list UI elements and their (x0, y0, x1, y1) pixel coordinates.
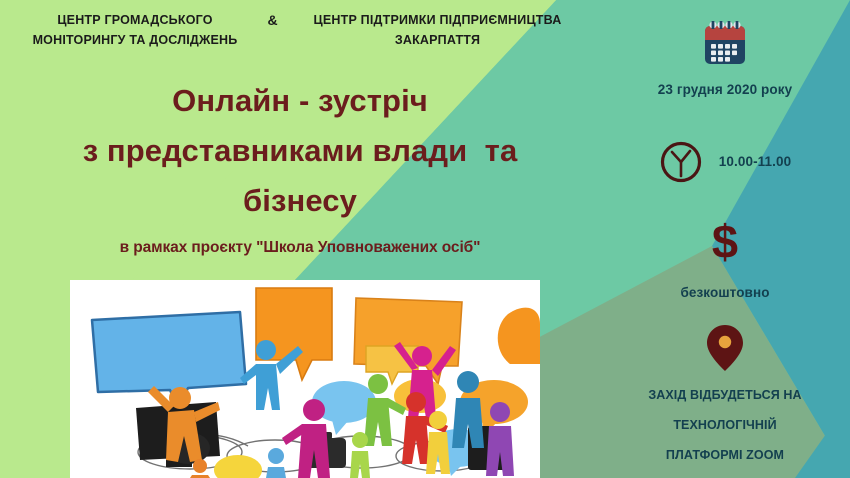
detail-price: $ безкоштовно (600, 218, 850, 303)
place-line-1: ЗАХІД ВІДБУДЕТЬСЯ НА (600, 386, 850, 404)
event-subtitle: в рамках проєкту "Школа Уповноважених ос… (0, 239, 600, 257)
event-title-block: Онлайн - зустріч з представниками влади … (0, 76, 600, 257)
date-text: 23 грудня 2020 року (600, 80, 850, 100)
dollar-sign-icon: $ (600, 218, 850, 265)
event-title-line-1: Онлайн - зустріч (0, 76, 600, 126)
organizers-row: ЦЕНТР ГРОМАДСЬКОГО МОНІТОРИНГУ ТА ДОСЛІД… (0, 11, 600, 51)
main-content-column: ЦЕНТР ГРОМАДСЬКОГО МОНІТОРИНГУ ТА ДОСЛІД… (0, 0, 600, 478)
detail-place: ЗАХІД ВІДБУДЕТЬСЯ НА ТЕХНОЛОГІЧНІЙ ПЛАТФ… (600, 322, 850, 464)
time-text: 10.00-11.00 (719, 152, 791, 172)
place-line-2: ТЕХНОЛОГІЧНІЙ (600, 416, 850, 434)
event-title-line-2: з представниками влади та (0, 126, 600, 176)
organizers-ampersand: & (253, 11, 293, 28)
event-poster: ЦЕНТР ГРОМАДСЬКОГО МОНІТОРИНГУ ТА ДОСЛІД… (0, 0, 850, 478)
map-pin-icon-holder (600, 322, 850, 374)
event-title-line-3: бізнесу (0, 176, 600, 226)
event-details-column: 23 грудня 2020 року 10.00-11.00 $ безкош… (600, 0, 850, 478)
calendar-icon (699, 18, 751, 70)
clock-icon (659, 140, 703, 184)
illustration-image (70, 280, 540, 478)
map-pin-icon (703, 323, 747, 373)
organizer-right-name: ЦЕНТР ПІДТРИМКИ ПІДПРИЄМНИЦТВА ЗАКАРПАТТ… (293, 11, 583, 51)
detail-date: 23 грудня 2020 року (600, 16, 850, 100)
organizer-left-name: ЦЕНТР ГРОМАДСЬКОГО МОНІТОРИНГУ ТА ДОСЛІД… (18, 11, 253, 51)
calendar-icon-holder (600, 16, 850, 72)
price-text: безкоштовно (600, 283, 850, 303)
place-line-3: ПЛАТФОРМІ ZOOM (600, 446, 850, 464)
detail-time: 10.00-11.00 (600, 140, 850, 184)
